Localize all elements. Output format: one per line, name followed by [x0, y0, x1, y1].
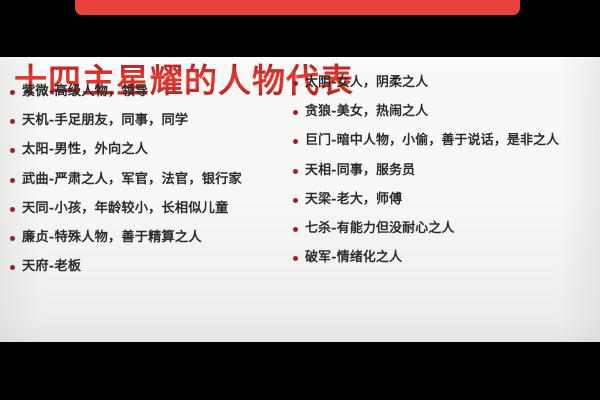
list-item-label: 巨门-暗中人物，小偷，善于说话，是非之人	[305, 131, 559, 150]
list-item: 武曲-严肃之人，军官，法官，银行家	[10, 170, 300, 199]
bullet-dot-icon	[10, 265, 15, 270]
right-bullet-column: 太阴-女人，阴柔之人 贪狼-美女，热闹之人 巨门-暗中人物，小偷，善于说话，是非…	[293, 57, 598, 277]
bullet-dot-icon	[293, 139, 298, 144]
list-item-label: 太阴-女人，阴柔之人	[305, 73, 428, 92]
list-item-label: 天梁-老大，师傅	[305, 190, 402, 209]
bullet-dot-icon	[10, 119, 15, 124]
list-item: 天梁-老大，师傅	[293, 190, 598, 219]
list-item: 天府-老板	[10, 257, 300, 286]
list-item: 天同-小孩，年龄较小，长相似儿童	[10, 199, 300, 228]
left-bullet-column: 紫微-高级人物，领导 天机-手足朋友，同事，同学 太阳-男性，外向之人 武曲-严…	[10, 57, 300, 286]
list-item: 太阳-男性，外向之人	[10, 140, 300, 169]
list-item-label: 紫微-高级人物，领导	[22, 82, 148, 101]
list-item-label: 武曲-严肃之人，军官，法官，银行家	[22, 170, 242, 189]
bullet-dot-icon	[293, 227, 298, 232]
list-item: 廉贞-特殊人物，善于精算之人	[10, 228, 300, 257]
top-red-banner	[75, 0, 520, 15]
slide-root: 十四主星耀的人物代表 紫微-高级人物，领导 天机-手足朋友，同事，同学 太阳-男…	[0, 0, 600, 400]
list-item: 紫微-高级人物，领导	[10, 82, 300, 111]
bullet-dot-icon	[10, 148, 15, 153]
bullet-columns: 紫微-高级人物，领导 天机-手足朋友，同事，同学 太阳-男性，外向之人 武曲-严…	[0, 57, 600, 342]
bullet-dot-icon	[293, 198, 298, 203]
list-item-label: 天府-老板	[22, 257, 81, 276]
bullet-dot-icon	[293, 81, 298, 86]
list-item-label: 天机-手足朋友，同事，同学	[22, 111, 188, 130]
bullet-dot-icon	[10, 178, 15, 183]
list-item-label: 破军-情绪化之人	[305, 248, 402, 267]
list-item: 天相-同事，服务员	[293, 161, 598, 190]
list-item: 天机-手足朋友，同事，同学	[10, 111, 300, 140]
list-item-label: 廉贞-特殊人物，善于精算之人	[22, 228, 202, 247]
bullet-dot-icon	[293, 110, 298, 115]
list-item-label: 太阳-男性，外向之人	[22, 140, 148, 159]
list-item-label: 七杀-有能力但没耐心之人	[305, 219, 455, 238]
list-item: 七杀-有能力但没耐心之人	[293, 219, 598, 248]
list-item-label: 贪狼-美女，热闹之人	[305, 102, 428, 121]
bullet-dot-icon	[293, 256, 298, 261]
list-item: 破军-情绪化之人	[293, 248, 598, 277]
list-item-label: 天同-小孩，年龄较小，长相似儿童	[22, 199, 229, 218]
list-item: 贪狼-美女，热闹之人	[293, 102, 598, 131]
list-item: 巨门-暗中人物，小偷，善于说话，是非之人	[293, 131, 598, 160]
bullet-dot-icon	[293, 169, 298, 174]
bullet-dot-icon	[10, 90, 15, 95]
list-item: 太阴-女人，阴柔之人	[293, 73, 598, 102]
bottom-black-band	[0, 342, 600, 400]
list-item-label: 天相-同事，服务员	[305, 161, 415, 180]
bullet-dot-icon	[10, 207, 15, 212]
bullet-dot-icon	[10, 236, 15, 241]
